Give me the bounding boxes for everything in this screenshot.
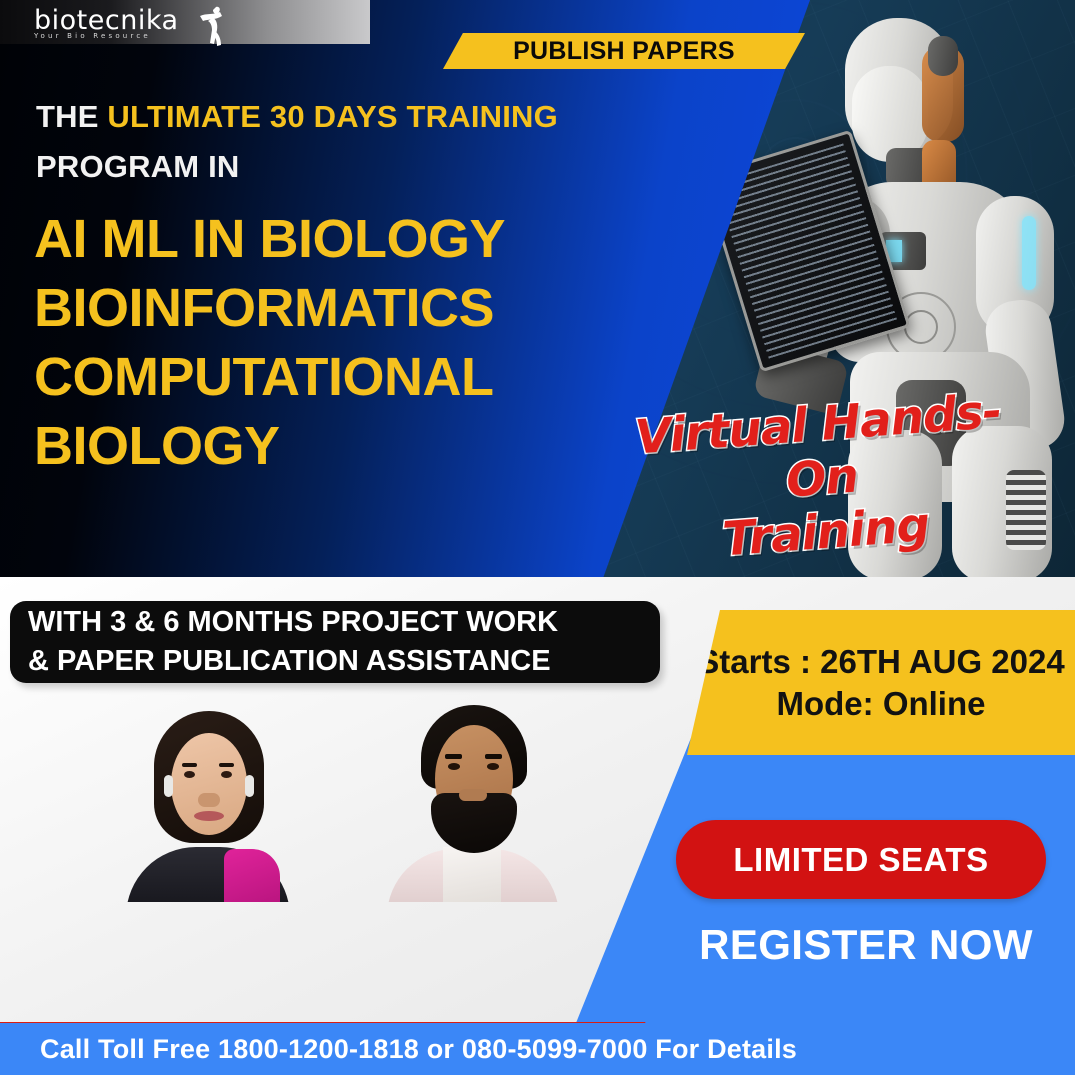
contact-bar: Call Toll Free 1800-1200-1818 or 080-509… xyxy=(0,1023,1075,1075)
title-line-1: AI ML IN BIOLOGY xyxy=(34,205,674,274)
brand-logo: biotecnika Your Bio Resource xyxy=(34,6,244,48)
promo-poster: biotecnika Your Bio Resource PUBLISH PAP… xyxy=(0,0,1075,1075)
runner-figure-icon xyxy=(194,4,228,50)
title-line-4: BIOLOGY xyxy=(34,412,674,481)
headline-block: THE ULTIMATE 30 DAYS TRAINING PROGRAM IN xyxy=(36,92,676,192)
schedule-band: Starts : 26TH AUG 2024 Mode: Online xyxy=(687,610,1075,755)
badge-line-2: & PAPER PUBLICATION ASSISTANCE xyxy=(28,642,551,681)
register-now-button[interactable]: REGISTER NOW xyxy=(676,917,1056,973)
contact-text: Call Toll Free 1800-1200-1818 or 080-509… xyxy=(40,1034,797,1065)
title-line-3: COMPUTATIONAL xyxy=(34,343,674,412)
speaker-photo-1 xyxy=(120,697,295,902)
register-now-label: REGISTER NOW xyxy=(699,921,1033,969)
badge-line-1: WITH 3 & 6 MONTHS PROJECT WORK xyxy=(28,603,558,642)
hero-section: biotecnika Your Bio Resource PUBLISH PAP… xyxy=(0,0,1075,577)
program-title-block: AI ML IN BIOLOGY BIOINFORMATICS COMPUTAT… xyxy=(34,205,674,481)
mode-text: Mode: Online xyxy=(777,683,986,725)
ribbon-label: PUBLISH PAPERS xyxy=(513,37,735,66)
title-line-2: BIOINFORMATICS xyxy=(34,274,674,343)
lower-section: Starts : 26TH AUG 2024 Mode: Online WITH… xyxy=(0,577,1075,1075)
virtual-hands-on-training-text: Virtual Hands-On Training xyxy=(607,383,1038,575)
limited-seats-label: LIMITED SEATS xyxy=(733,841,988,879)
start-date-text: Starts : 26TH AUG 2024 xyxy=(697,641,1064,683)
limited-seats-button[interactable]: LIMITED SEATS xyxy=(676,820,1046,899)
speaker-photo-2 xyxy=(385,697,560,902)
publish-papers-ribbon: PUBLISH PAPERS xyxy=(443,33,805,69)
project-work-badge: WITH 3 & 6 MONTHS PROJECT WORK & PAPER P… xyxy=(10,601,660,683)
headline-line-1: THE ULTIMATE 30 DAYS TRAINING xyxy=(36,92,676,142)
headline-the: THE xyxy=(36,99,107,134)
headline-ultimate: ULTIMATE 30 DAYS TRAINING xyxy=(107,99,558,134)
speakers-block: DR. NILOFER K SHAIKH MR.PRODYOT BANERJEE… xyxy=(0,697,660,917)
headline-line-2: PROGRAM IN xyxy=(36,142,676,192)
